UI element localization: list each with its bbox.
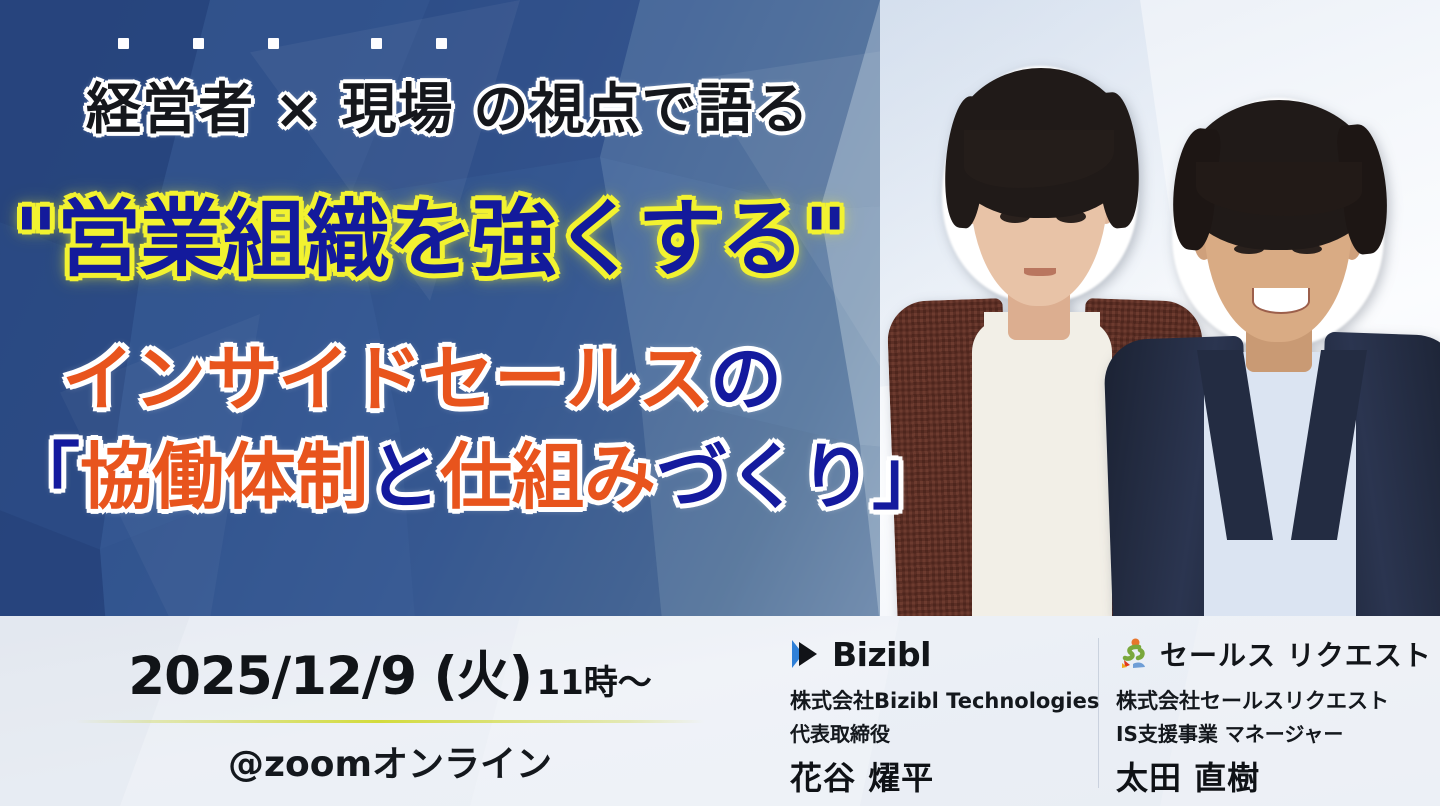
white-tee — [972, 318, 1112, 616]
divider-rule — [76, 720, 704, 723]
title-sub-line-2: 「協働体制と仕組みづくり」 — [8, 418, 944, 523]
event-date: 2025/12/9 (火) — [128, 646, 532, 707]
smiling-mouth — [1252, 288, 1310, 314]
bracket-open: 「 — [8, 435, 80, 519]
speaker-photo-ota — [1116, 0, 1440, 616]
webinar-banner: 経営者 × 現場 の視点で語る "営業組織を強くする" インサイドセールスの 「… — [0, 0, 1440, 806]
event-time: 11時〜 — [536, 663, 651, 703]
title-sub-orange-1: インサイドセールス — [62, 337, 710, 421]
title-sub-line-1: インサイドセールスの — [62, 320, 782, 425]
brand-name-bizibl: Bizibl — [832, 635, 931, 674]
speaker-card-1: Bizibl 株式会社Bizibl Technologies 代表取締役 花谷 … — [790, 632, 1090, 799]
event-datetime-block: 2025/12/9 (火) 11時〜 @zoomオンライン — [60, 634, 720, 787]
play-triangle-icon — [790, 637, 824, 671]
speaker-card-2: セールス リクエスト 株式会社セールスリクエスト IS支援事業 マネージャー 太… — [1116, 632, 1436, 799]
event-date-line: 2025/12/9 (火) 11時〜 — [60, 634, 720, 710]
title-sub-navy-3: づくり — [656, 435, 872, 519]
title-sub-orange-2: 協働体制 — [80, 435, 368, 519]
speaker-role-2: IS支援事業 マネージャー — [1116, 718, 1436, 747]
speaker-company-2: 株式会社セールスリクエスト — [1116, 685, 1436, 715]
event-platform: @zoomオンライン — [60, 735, 720, 787]
running-person-icon — [1116, 636, 1152, 672]
brand-row-bizibl: Bizibl — [790, 632, 1090, 676]
mouth — [1024, 268, 1056, 276]
speaker-company-1: 株式会社Bizibl Technologies — [790, 685, 1090, 715]
speakers-photo — [880, 0, 1440, 616]
brand-row-salesrequest: セールス リクエスト — [1116, 632, 1436, 676]
footer-bar: 2025/12/9 (火) 11時〜 @zoomオンライン Bizibl 株式会… — [0, 616, 1440, 806]
title-sub-navy-1: の — [710, 337, 782, 421]
title-sub-navy-2: と — [368, 435, 440, 519]
speaker-divider — [1098, 638, 1099, 788]
bracket-close: 」 — [872, 435, 944, 519]
brand-name-salesrequest: セールス リクエスト — [1160, 634, 1432, 674]
title-main: "営業組織を強くする" — [14, 172, 847, 293]
speaker-name-1: 花谷 燿平 — [790, 753, 1090, 799]
speaker-role-1: 代表取締役 — [790, 718, 1090, 747]
speaker-name-2: 太田 直樹 — [1116, 753, 1436, 799]
kicker-text: 経営者 × 現場 の視点で語る — [86, 64, 810, 144]
headline-block: 経営者 × 現場 の視点で語る "営業組織を強くする" インサイドセールスの 「… — [0, 0, 920, 616]
title-sub-orange-3: 仕組み — [440, 435, 656, 519]
